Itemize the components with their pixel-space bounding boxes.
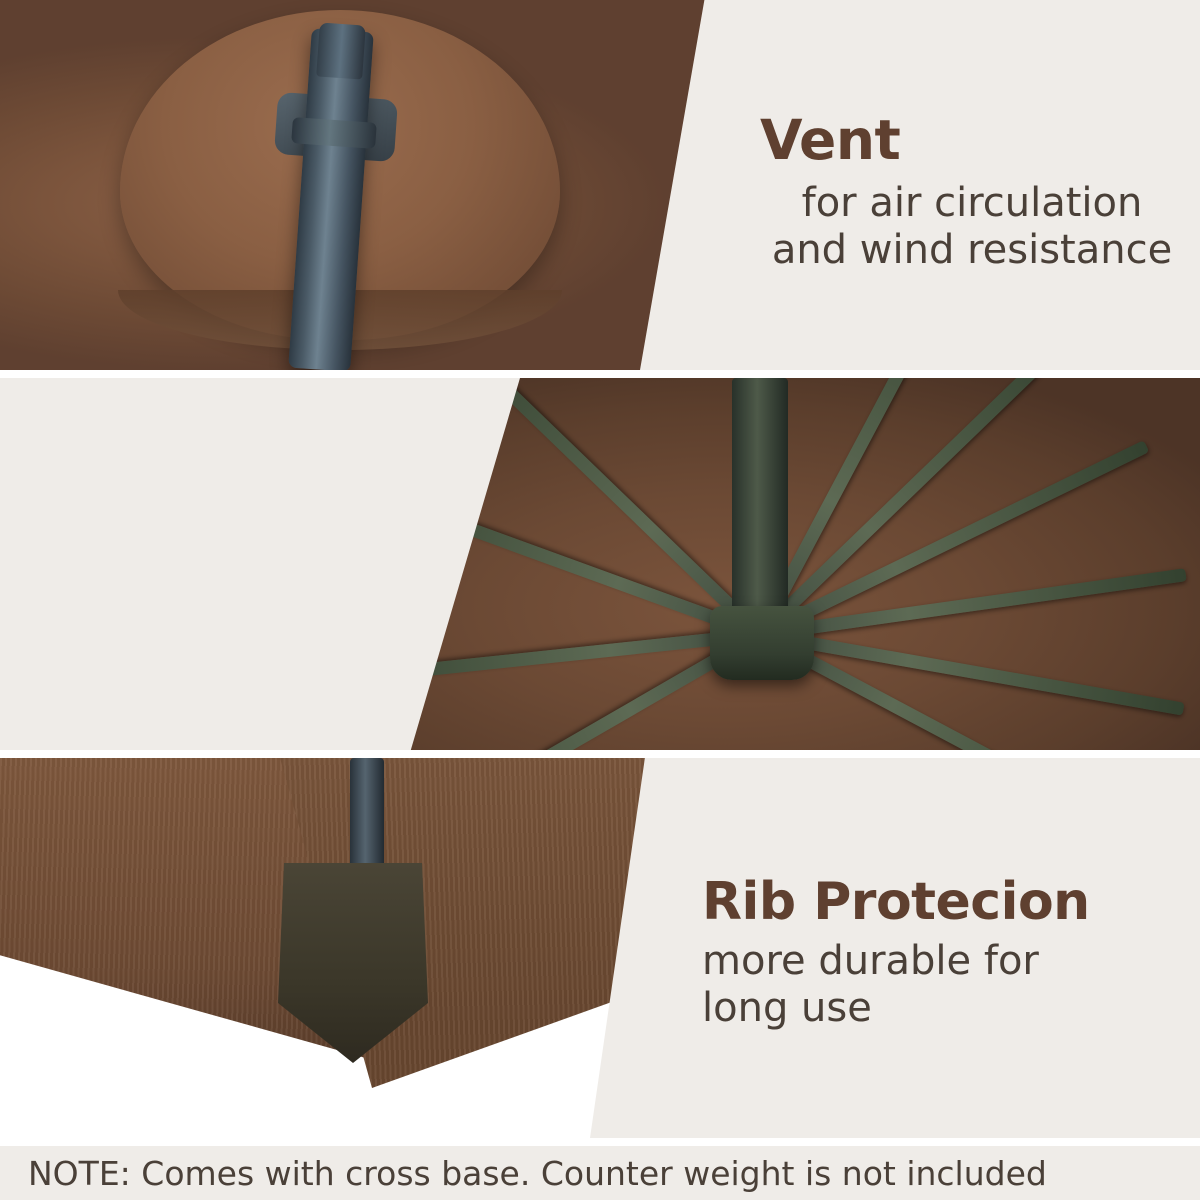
- note-bar: NOTE: Comes with cross base. Counter wei…: [0, 1146, 1200, 1200]
- panel-vent-textblock: Vent for air circulation and wind resist…: [640, 0, 1200, 370]
- rib-hub-shape: [710, 606, 814, 680]
- panel-ribs: Eight Ribs firmly extend the canopy: [0, 378, 1200, 750]
- panel-protection-heading: Rib Protecion: [702, 872, 1090, 932]
- panel-protection-body-line-2: long use: [702, 985, 1182, 1032]
- center-pole-shape: [732, 378, 788, 630]
- panel-protection: Rib Protecion more durable for long use: [0, 758, 1200, 1138]
- panel-vent: Vent for air circulation and wind resist…: [0, 0, 1200, 370]
- panel-vent-body-line-2: and wind resistance: [752, 227, 1192, 274]
- infographic-page: Vent for air circulation and wind resist…: [0, 0, 1200, 1200]
- pole-cap-shape: [316, 22, 366, 79]
- panel-protection-body: more durable for long use: [702, 938, 1182, 1032]
- panel-vent-body: for air circulation and wind resistance: [752, 180, 1192, 274]
- umbrella-rib-protection-photo: [0, 758, 700, 1138]
- panel-protection-textblock: Rib Protecion more durable for long use: [590, 758, 1200, 1138]
- panel-vent-heading: Vent: [760, 108, 900, 172]
- panel-gap-2: [0, 750, 1200, 758]
- panel-vent-body-line-1: for air circulation: [752, 180, 1192, 227]
- umbrella-canopy-vent-photo: [0, 0, 740, 370]
- panel-gap-3: [0, 1138, 1200, 1146]
- panel-protection-body-line-1: more durable for: [702, 938, 1182, 985]
- note-text: NOTE: Comes with cross base. Counter wei…: [0, 1154, 1047, 1193]
- panel-gap-1: [0, 370, 1200, 378]
